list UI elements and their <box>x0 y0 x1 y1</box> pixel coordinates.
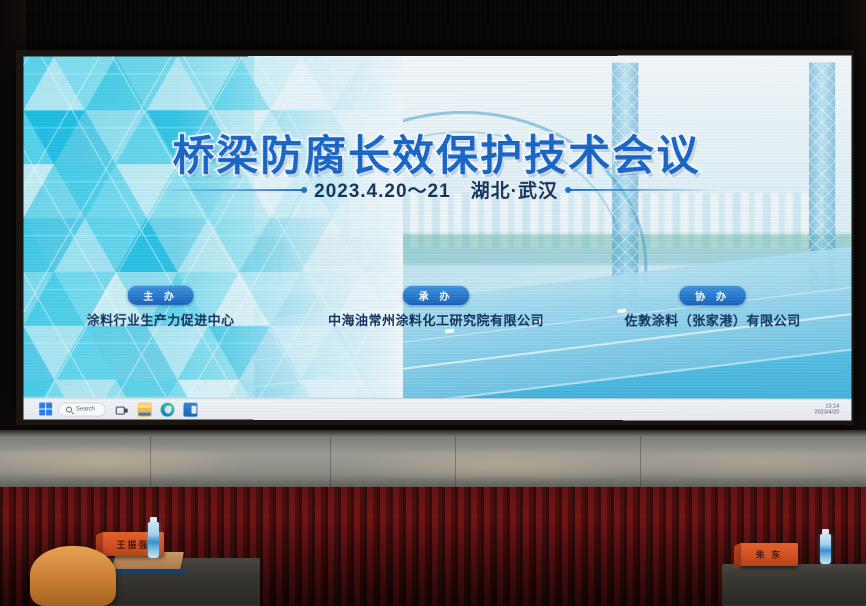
organizer-chip: 主 办 <box>127 286 194 305</box>
water-bottle <box>820 534 831 564</box>
floor-seam <box>640 436 641 488</box>
conference-hall: 桥梁防腐长效保护技术会议 2023.4.20～21 湖北·武汉 主 办 涂料行业… <box>0 0 866 606</box>
organizer-name: 中海油常州涂料化工研究院有限公司 <box>298 310 574 329</box>
bottle-cap <box>822 529 829 534</box>
bottle-cap <box>150 517 157 522</box>
subtitle-rule-right <box>568 188 718 190</box>
organizer-host: 主 办 涂料行业生产力促进中心 <box>23 286 298 329</box>
start-button-icon[interactable] <box>39 403 52 416</box>
organizer-chip: 承 办 <box>403 286 470 305</box>
subtitle-rule-left <box>155 189 305 191</box>
pattern-fade <box>23 56 403 398</box>
stage-lighting <box>0 430 866 488</box>
name-placard: 朱 东 <box>740 543 798 566</box>
stage-floor <box>0 430 866 488</box>
triangle-pattern <box>23 56 403 398</box>
placard-text: 朱 东 <box>756 548 783 561</box>
floor-seam <box>150 436 151 488</box>
search-input[interactable]: Search <box>58 402 106 416</box>
head-table-right: 朱 东 <box>716 526 866 606</box>
search-icon <box>66 406 72 412</box>
system-clock[interactable]: 13:14 2023/4/20 <box>815 404 852 416</box>
organizer-name: 佐敦涂料（张家港）有限公司 <box>574 310 851 329</box>
organizer-coorganizer: 协 办 佐敦涂料（张家港）有限公司 <box>574 286 851 329</box>
microsoft-store-icon[interactable] <box>184 402 198 416</box>
water-bottle <box>148 522 159 558</box>
microsoft-edge-icon[interactable] <box>161 402 175 416</box>
floor-seam <box>330 436 331 488</box>
head-table-left: 王振强 <box>30 516 260 606</box>
organizer-undertaker: 承 办 中海油常州涂料化工研究院有限公司 <box>298 286 574 329</box>
taskbar-left-group: Search <box>23 402 197 416</box>
task-view-icon[interactable] <box>115 402 129 416</box>
windows-taskbar[interactable]: Search 13:14 2023/4/20 <box>23 398 851 421</box>
subtitle-text: 2023.4.20～21 湖北·武汉 <box>314 176 558 203</box>
search-placeholder: Search <box>76 406 95 412</box>
subtitle-row: 2023.4.20～21 湖北·武汉 <box>23 176 851 203</box>
organizer-name: 涂料行业生产力促进中心 <box>23 310 298 329</box>
table-surface <box>722 564 866 606</box>
led-screen[interactable]: 桥梁防腐长效保护技术会议 2023.4.20～21 湖北·武汉 主 办 涂料行业… <box>23 55 851 420</box>
floor-seam <box>455 436 456 488</box>
organizer-chip: 协 办 <box>679 286 746 305</box>
notebook-cover <box>112 569 187 573</box>
page-title: 桥梁防腐长效保护技术会议 <box>23 122 851 184</box>
organizer-row: 主 办 涂料行业生产力促进中心 承 办 中海油常州涂料化工研究院有限公司 协 办… <box>23 286 851 329</box>
placard-text: 王振强 <box>116 538 149 551</box>
clock-date: 2023/4/20 <box>815 410 840 416</box>
file-explorer-icon[interactable] <box>138 402 152 416</box>
chair <box>30 546 116 606</box>
conference-poster: 桥梁防腐长效保护技术会议 2023.4.20～21 湖北·武汉 主 办 涂料行业… <box>23 55 851 398</box>
